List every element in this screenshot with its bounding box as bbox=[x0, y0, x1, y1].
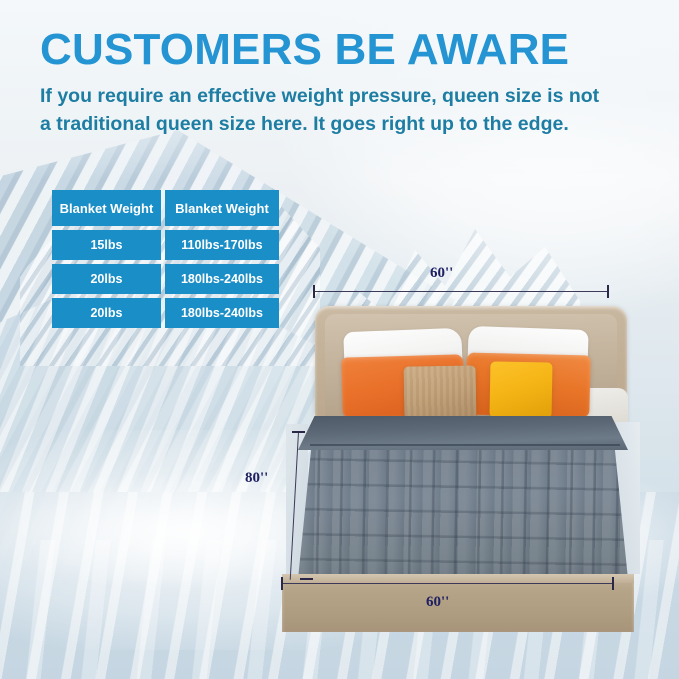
dimension-line-horizontal-bottom bbox=[281, 583, 613, 584]
product-infographic: CUSTOMERS BE AWARE If you require an eff… bbox=[0, 0, 679, 679]
dimension-tick-left bbox=[281, 577, 283, 590]
dimension-label-left: 80'' bbox=[245, 470, 268, 487]
table-header-row: Blanket Weight Blanket Weight bbox=[52, 190, 279, 226]
table-cell-weight: 15lbs bbox=[52, 230, 161, 260]
dimension-tick-bottom bbox=[300, 578, 313, 580]
dimension-tick-top bbox=[292, 431, 305, 433]
dimension-label-top: 60'' bbox=[430, 265, 453, 282]
table-cell-bodyweight: 110lbs-170lbs bbox=[165, 230, 279, 260]
table-row: 20lbs 180lbs-240lbs bbox=[52, 298, 279, 328]
bed-product-image bbox=[300, 296, 679, 636]
dimension-tick-right bbox=[612, 577, 614, 590]
cushion-tan-square bbox=[404, 365, 477, 418]
table-cell-weight: 20lbs bbox=[52, 264, 161, 294]
table-row: 20lbs 180lbs-240lbs bbox=[52, 264, 279, 294]
headline-block: CUSTOMERS BE AWARE If you require an eff… bbox=[40, 28, 640, 138]
table-header-cell-2: Blanket Weight bbox=[165, 190, 279, 226]
table-row: 15lbs 110lbs-170lbs bbox=[52, 230, 279, 260]
dimension-label-bottom: 60'' bbox=[426, 594, 449, 611]
table-cell-bodyweight: 180lbs-240lbs bbox=[165, 264, 279, 294]
dimension-tick-right bbox=[607, 285, 609, 298]
table-header-cell-1: Blanket Weight bbox=[52, 190, 161, 226]
bed-base-top-edge bbox=[282, 574, 634, 583]
dimension-line-horizontal-top bbox=[313, 291, 609, 292]
subtitle: If you require an effective weight press… bbox=[40, 83, 640, 138]
cushion-yellow-square bbox=[490, 361, 553, 418]
weighted-blanket-seam bbox=[310, 444, 620, 446]
page-title: CUSTOMERS BE AWARE bbox=[40, 28, 640, 73]
dimension-tick-left bbox=[313, 285, 315, 298]
table-cell-weight: 20lbs bbox=[52, 298, 161, 328]
subtitle-line-1: If you require an effective weight press… bbox=[40, 83, 640, 111]
table-cell-bodyweight: 180lbs-240lbs bbox=[165, 298, 279, 328]
blanket-weight-table: Blanket Weight Blanket Weight 15lbs 110l… bbox=[48, 186, 283, 332]
subtitle-line-2: a traditional queen size here. It goes r… bbox=[40, 111, 640, 139]
